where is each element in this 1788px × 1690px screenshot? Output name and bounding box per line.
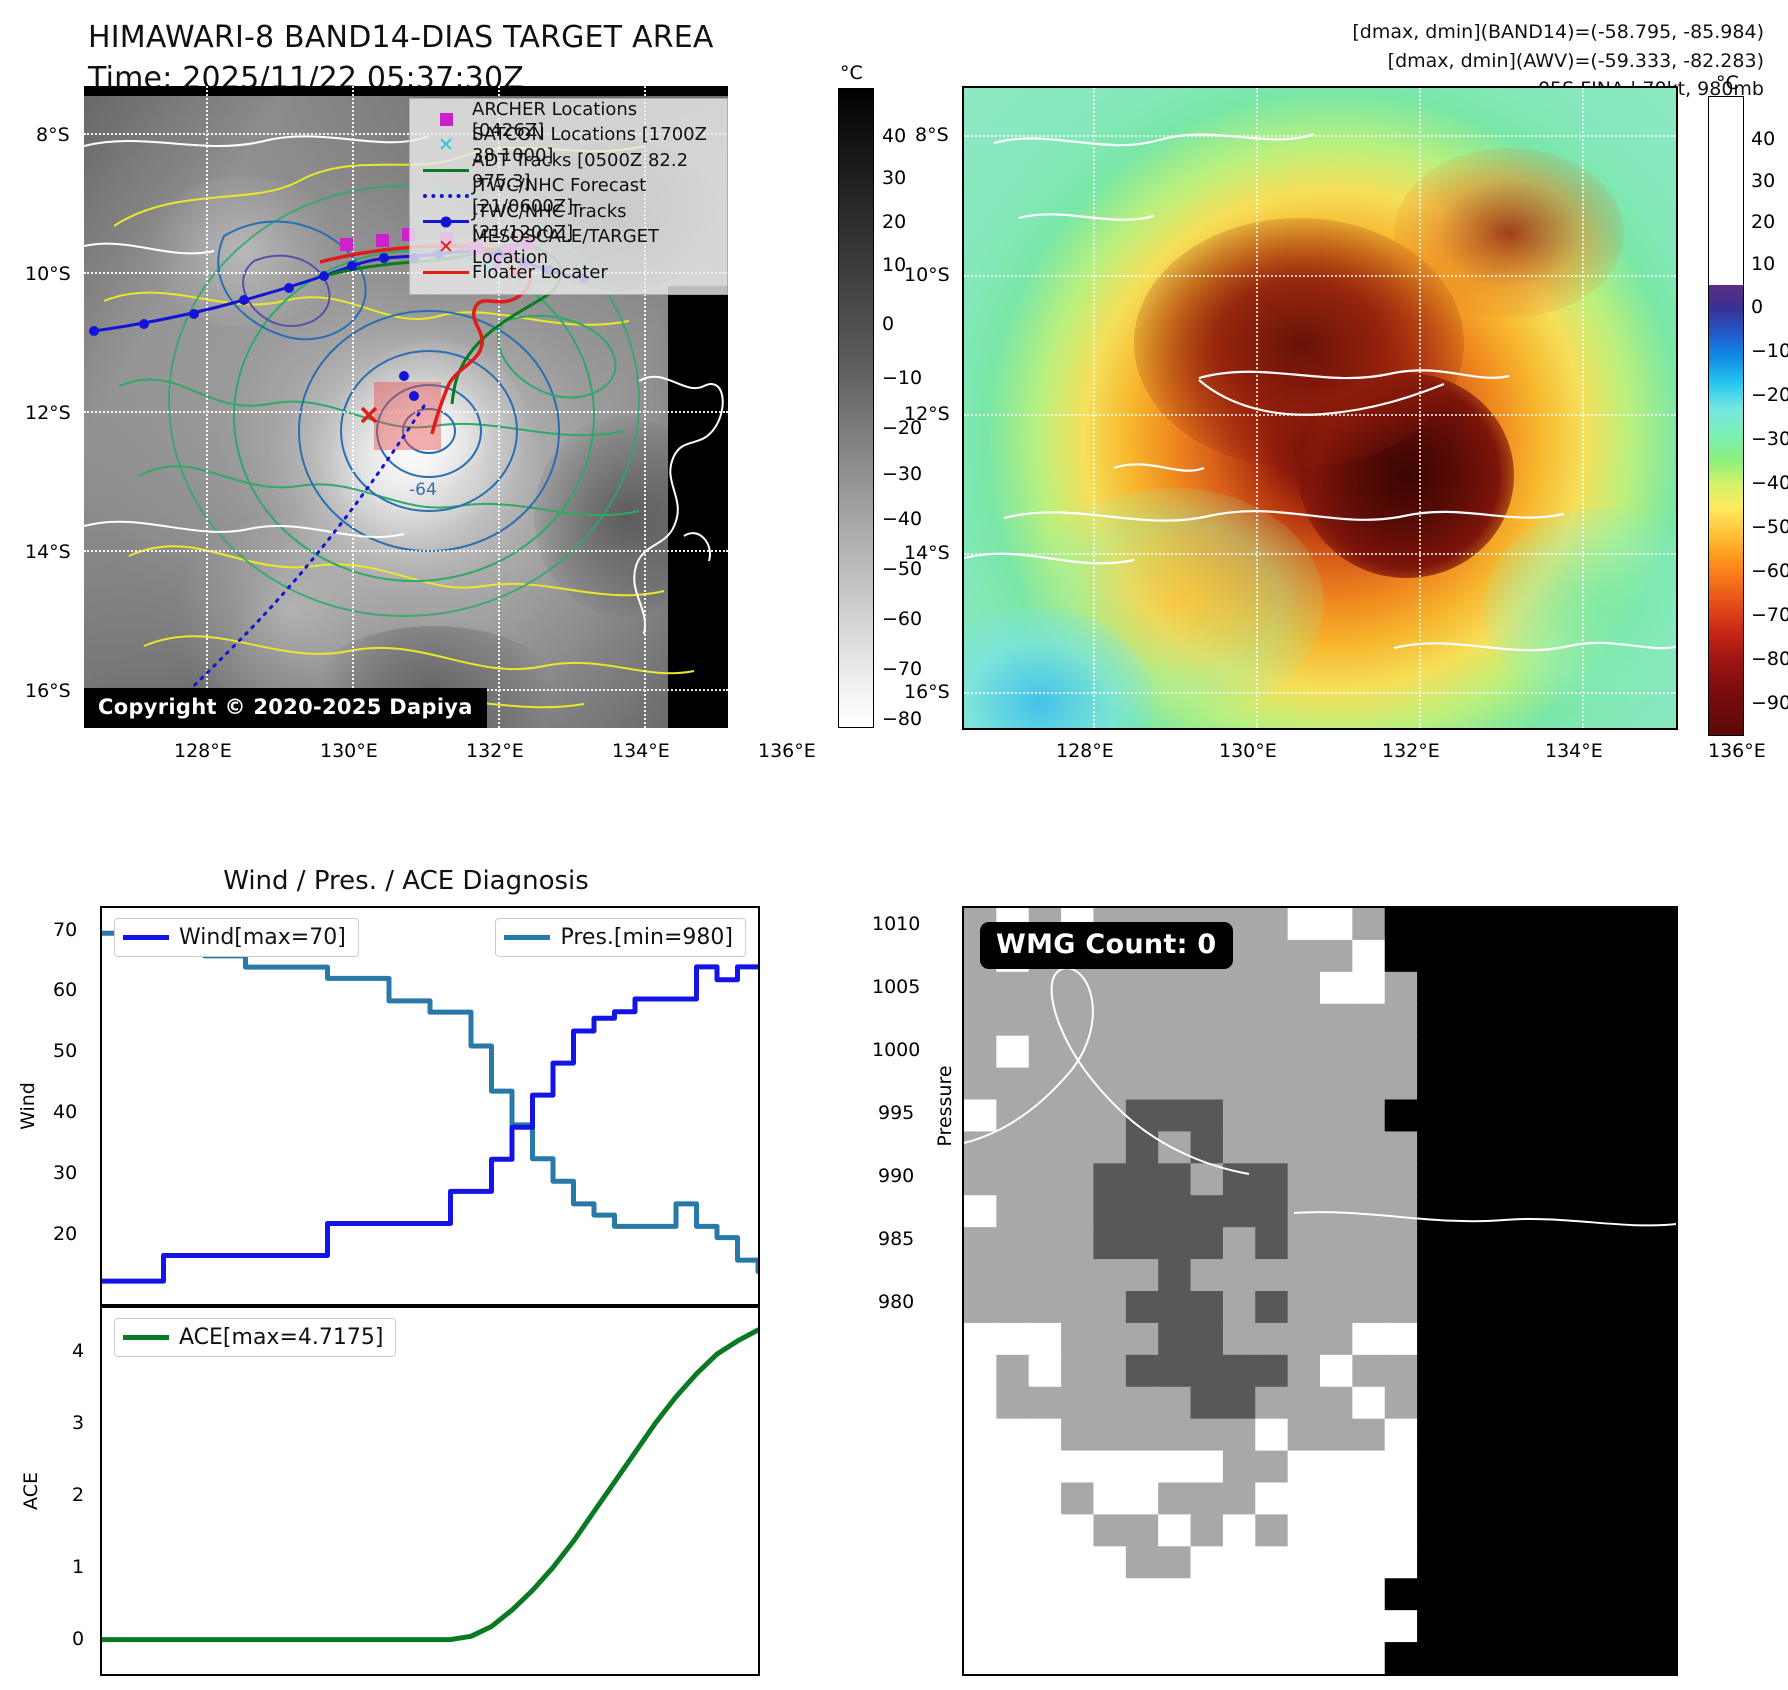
wind-tick-50: 50	[53, 1040, 77, 1062]
cbar-left-tick-m40: −40	[882, 508, 922, 530]
lon-tick-right-136E: 136°E	[1708, 740, 1766, 762]
ace-tick-0: 0	[72, 1628, 84, 1650]
colorbar-unit-right: °C	[1716, 72, 1739, 94]
wind-tick-30: 30	[53, 1162, 77, 1184]
ace-legend: ACE[max=4.7175]	[114, 1318, 396, 1357]
legend-label: Floater Locater	[472, 262, 608, 283]
coastline-overlay-right	[964, 88, 1678, 730]
cbar-right-tick-10: 10	[1751, 253, 1775, 275]
cbar-right-tick-0: 0	[1751, 296, 1763, 318]
cbar-right-tick-20: 20	[1751, 211, 1775, 233]
wind-axis-label: Wind	[17, 1076, 39, 1136]
grid-line-right-12S	[964, 414, 1676, 416]
lat-tick-14S: 14°S	[25, 541, 71, 563]
cbar-left-tick-0: 0	[882, 313, 894, 335]
pressure-tick-995: 995	[878, 1102, 914, 1124]
grid-line-right-134E	[1582, 88, 1584, 728]
wind-tick-40: 40	[53, 1101, 77, 1123]
green-line-icon	[420, 169, 472, 172]
lat-tick-right-12S: 12°S	[904, 403, 950, 425]
pressure-axis-label: Pressure	[934, 1061, 956, 1151]
wmg-count-badge: WMG Count: 0	[980, 922, 1233, 969]
cbar-right-tick-m10: −10	[1751, 340, 1788, 362]
map-legend: ARCHER Locations [0426Z] ✕ SATCON Locati…	[409, 98, 728, 295]
pressure-line-icon	[504, 935, 550, 940]
cbar-left-tick-m70: −70	[882, 658, 922, 680]
cbar-left-tick-m80: −80	[882, 708, 922, 730]
ace-line-icon	[123, 1335, 169, 1340]
pressure-tick-980: 980	[878, 1291, 914, 1313]
legend-item-mesoscale: ✕ MESOSCALE/TARGET Location	[420, 235, 715, 261]
wind-line-icon	[123, 935, 169, 940]
cbar-right-tick-m70: −70	[1751, 604, 1788, 626]
cbar-left-tick-30: 30	[882, 167, 906, 189]
lat-tick-10S: 10°S	[25, 263, 71, 285]
pressure-tick-990: 990	[878, 1165, 914, 1187]
ir-enhancement-colorbar	[1708, 96, 1744, 736]
grid-line-right-132E	[1419, 88, 1421, 728]
ace-chart[interactable]: ACE[max=4.7175]	[100, 1306, 760, 1676]
pressure-tick-1000: 1000	[872, 1039, 920, 1061]
pressure-tick-1010: 1010	[872, 913, 920, 935]
contour-value-label: -64	[409, 480, 437, 500]
lon-tick-128E: 128°E	[174, 740, 232, 762]
lat-tick-right-10S: 10°S	[904, 264, 950, 286]
wind-pressure-plot-area	[102, 908, 758, 1304]
red-x-icon: ✕	[420, 238, 472, 257]
ace-tick-4: 4	[72, 1340, 84, 1362]
ir-enhanced-map[interactable]	[962, 86, 1678, 730]
cbar-left-tick-m30: −30	[882, 463, 922, 485]
cbar-right-tick-m30: −30	[1751, 428, 1788, 450]
ace-axis-label: ACE	[20, 1466, 42, 1516]
grid-line-right-16S	[964, 692, 1676, 694]
cbar-left-tick-40: 40	[882, 125, 906, 147]
cbar-left-tick-10: 10	[882, 254, 906, 276]
cbar-right-tick-m40: −40	[1751, 472, 1788, 494]
pressure-tick-985: 985	[878, 1228, 914, 1250]
lon-tick-right-134E: 134°E	[1545, 740, 1603, 762]
red-line-icon	[420, 271, 472, 274]
ace-tick-1: 1	[72, 1556, 84, 1578]
ace-legend-label: ACE[max=4.7175]	[179, 1325, 383, 1350]
cbar-right-tick-m90: −90	[1751, 692, 1788, 714]
grid-line-right-130E	[1256, 88, 1258, 728]
ace-tick-2: 2	[72, 1484, 84, 1506]
dashboard-root: HIMAWARI-8 BAND14-DIAS TARGET AREA Time:…	[0, 0, 1788, 1690]
wind-tick-20: 20	[53, 1223, 77, 1245]
cyan-x-icon: ✕	[420, 136, 472, 155]
cbar-right-tick-m60: −60	[1751, 560, 1788, 582]
lon-tick-132E: 132°E	[466, 740, 524, 762]
lat-tick-8S: 8°S	[36, 124, 70, 146]
diagnosis-chart-title: Wind / Pres. / ACE Diagnosis	[84, 866, 728, 896]
copyright-notice: Copyright © 2020-2025 Dapiya	[84, 688, 487, 728]
wind-pressure-chart[interactable]: Wind[max=70] Pres.[min=980]	[100, 906, 760, 1306]
pressure-legend-label: Pres.[min=980]	[560, 925, 733, 950]
cbar-left-tick-m10: −10	[882, 367, 922, 389]
wmg-coastline	[964, 908, 1676, 1674]
wind-legend-label: Wind[max=70]	[179, 925, 346, 950]
grid-line-right-8S	[964, 135, 1676, 137]
wind-legend: Wind[max=70]	[114, 918, 359, 957]
lat-tick-right-8S: 8°S	[915, 124, 949, 146]
wmg-map-panel[interactable]: WMG Count: 0	[962, 906, 1678, 1676]
ace-tick-3: 3	[72, 1412, 84, 1434]
ir-target-area-map[interactable]: -64 ARCHER Locations [0426Z] ✕ SATCON Lo…	[84, 86, 728, 728]
lon-tick-right-130E: 130°E	[1219, 740, 1277, 762]
magenta-square-icon	[420, 113, 472, 126]
blue-line-dot-icon	[420, 220, 472, 223]
lon-tick-right-128E: 128°E	[1056, 740, 1114, 762]
grid-line-right-128E	[1093, 88, 1095, 728]
ace-plot-area	[102, 1308, 758, 1674]
lon-tick-right-132E: 132°E	[1382, 740, 1440, 762]
cbar-left-tick-m60: −60	[882, 608, 922, 630]
colorbar-unit-left: °C	[840, 62, 863, 84]
cbar-right-tick-m50: −50	[1751, 516, 1788, 538]
cbar-left-tick-20: 20	[882, 211, 906, 233]
cbar-right-tick-m80: −80	[1751, 648, 1788, 670]
lat-tick-12S: 12°S	[25, 402, 71, 424]
wind-tick-70: 70	[53, 919, 77, 941]
cbar-right-tick-m20: −20	[1751, 384, 1788, 406]
cbar-right-tick-40: 40	[1751, 128, 1775, 150]
lon-tick-136E: 136°E	[758, 740, 816, 762]
lon-tick-130E: 130°E	[320, 740, 378, 762]
jtwc-forecast-track	[164, 406, 424, 714]
cbar-right-tick-30: 30	[1751, 170, 1775, 192]
pressure-tick-1005: 1005	[872, 976, 920, 998]
grid-line-right-10S	[964, 275, 1676, 277]
wind-tick-60: 60	[53, 979, 77, 1001]
pressure-legend: Pres.[min=980]	[495, 918, 746, 957]
lat-tick-right-14S: 14°S	[904, 542, 950, 564]
blue-dotted-line-icon	[420, 194, 472, 198]
lat-tick-right-16S: 16°S	[904, 681, 950, 703]
grayscale-colorbar	[838, 88, 874, 728]
grid-line-right-14S	[964, 553, 1676, 555]
lon-tick-134E: 134°E	[612, 740, 670, 762]
lat-tick-16S: 16°S	[25, 680, 71, 702]
